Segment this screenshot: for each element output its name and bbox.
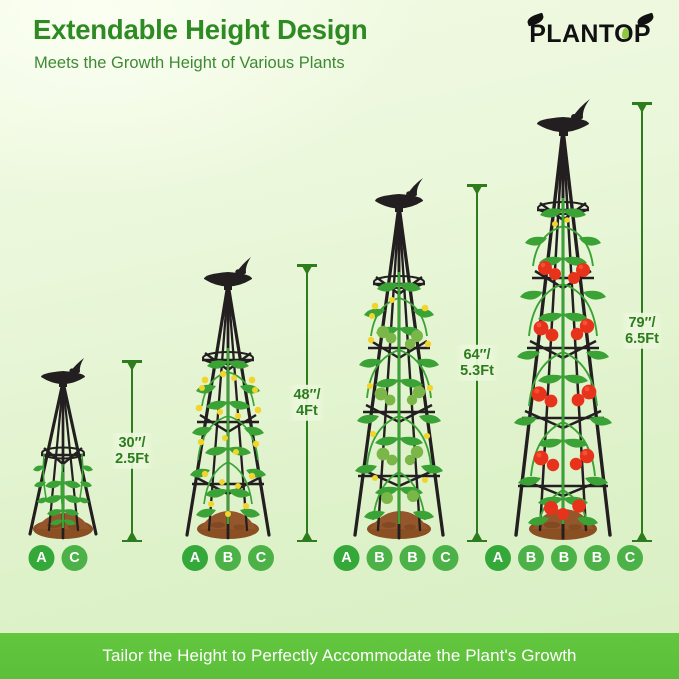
dimension-feet-2: 4Ft [293,403,320,419]
dimension-1: 30″/ 2.5Ft [112,360,152,542]
dimension-arrow-top-4 [637,104,647,113]
segment-badge-b: B [215,545,241,571]
plant-3 [355,272,443,524]
page-title: Extendable Height Design [33,14,367,46]
segment-badge-c: C [62,545,88,571]
footer-text: Tailor the Height to Perfectly Accommoda… [102,646,576,666]
segment-badge-a: A [182,545,208,571]
segment-badge-a: A [334,545,360,571]
dimension-arrow-bottom-1 [127,531,137,540]
segment-badges-row: AC ABC ABBC ABBBC [0,545,679,591]
bird-bath-finial-3 [375,178,423,212]
dimension-label-2: 48″/ 4Ft [288,385,325,421]
infographic-page: Extendable Height Design Meets the Growt… [0,0,679,679]
plant-2 [190,348,266,524]
segment-badges-2: ABC [182,545,274,571]
dimension-arrow-bottom-3 [472,531,482,540]
unit-4: 79″/ 6.5Ft [495,94,679,542]
unit-1: 30″/ 2.5Ft [8,352,158,542]
bird-bath-finial-4 [537,99,590,136]
trellis-graphic-2 [168,252,288,542]
segment-badges-3: ABBC [334,545,459,571]
dimension-label-3: 64″/ 5.3Ft [455,345,499,381]
dimension-inches-1: 30″/ [115,435,149,451]
segment-badge-b: B [518,545,544,571]
trellis-graphic-3 [335,172,463,542]
segment-badge-b: B [400,545,426,571]
unit-2: 48″/ 4Ft [168,252,333,542]
brand-logo: PLANTOP [529,20,651,49]
dimension-arrow-top-2 [302,266,312,275]
unit-3: 64″/ 5.3Ft [335,172,510,542]
brand-logo-text: PLANTOP [529,20,651,48]
footer-banner: Tailor the Height to Perfectly Accommoda… [0,633,679,679]
header: Extendable Height Design Meets the Growt… [0,0,679,92]
plant-4 [514,198,612,526]
trellis-graphic-4 [495,94,631,542]
dimension-inches-3: 64″/ [460,347,494,363]
dimension-arrow-top-1 [127,362,137,371]
water-drop-icon [622,28,629,39]
segment-badge-c: C [617,545,643,571]
bird-bath-finial-1 [41,358,85,387]
dimension-inches-4: 79″/ [625,315,659,331]
dimension-3: 64″/ 5.3Ft [455,184,499,542]
segment-badge-b: B [367,545,393,571]
product-comparison-stage: 30″/ 2.5Ft [0,92,679,542]
dimension-feet-4: 6.5Ft [625,331,659,347]
segment-badge-a: A [29,545,55,571]
dimension-feet-1: 2.5Ft [115,451,149,467]
dimension-arrow-bottom-4 [637,531,647,540]
segment-badge-b: B [551,545,577,571]
segment-badge-c: C [248,545,274,571]
dimension-label-4: 79″/ 6.5Ft [620,313,664,349]
segment-badge-b: B [584,545,610,571]
dimension-label-1: 30″/ 2.5Ft [110,433,154,469]
segment-badges-1: AC [29,545,88,571]
page-subtitle: Meets the Growth Height of Various Plant… [34,54,345,73]
dimension-2: 48″/ 4Ft [286,264,328,542]
dimension-feet-3: 5.3Ft [460,363,494,379]
dimension-inches-2: 48″/ [293,387,320,403]
dimension-arrow-top-3 [472,186,482,195]
bird-bath-finial-2 [204,257,252,290]
segment-badges-4: ABBBC [485,545,643,571]
trellis-graphic-1 [8,352,118,542]
plant-1 [33,454,93,528]
segment-badge-a: A [485,545,511,571]
dimension-arrow-bottom-2 [302,531,312,540]
segment-badge-c: C [433,545,459,571]
dimension-4: 79″/ 6.5Ft [619,102,665,542]
